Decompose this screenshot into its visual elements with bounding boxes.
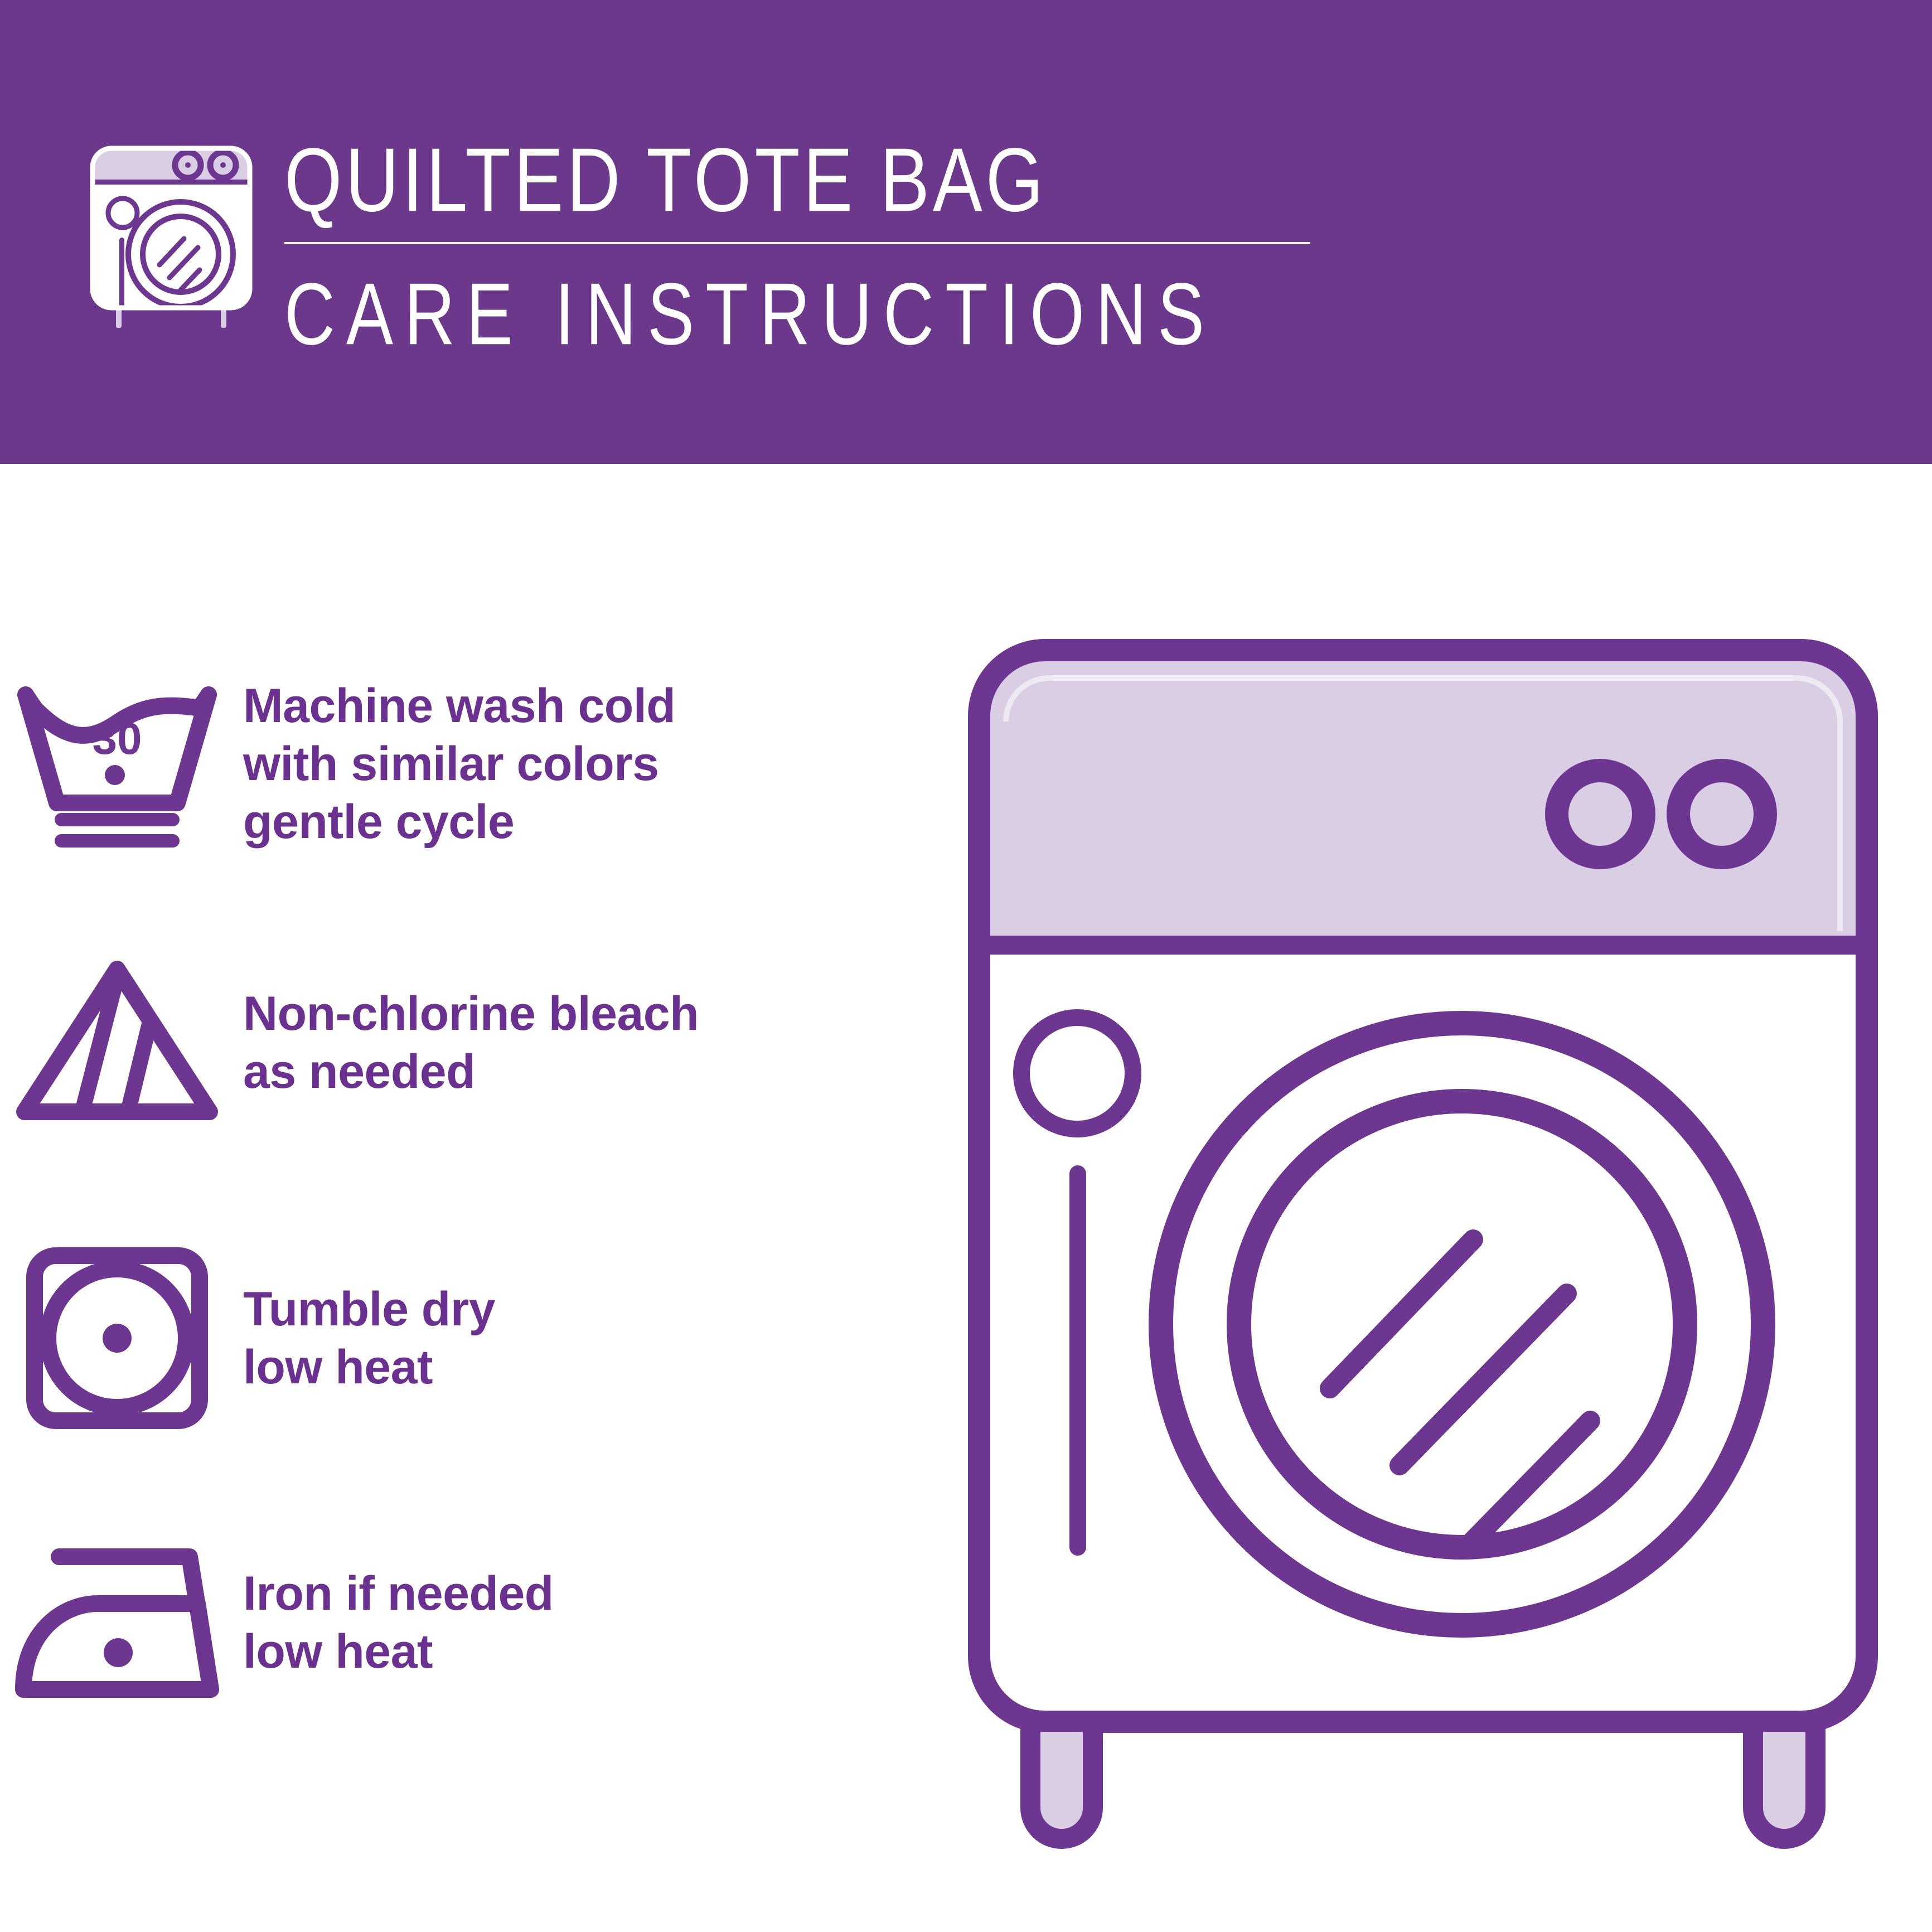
washing-machine-illustration bbox=[959, 630, 1907, 1857]
page-title: QUILTED TOTE BAG bbox=[284, 129, 1310, 231]
care-label-iron: Iron if needed low heat bbox=[234, 1565, 554, 1681]
iron-low-heat-icon bbox=[0, 1511, 234, 1734]
care-label-bleach: Non-chlorine bleach as needed bbox=[234, 985, 699, 1101]
wash-tub-30-gentle-icon: 30 bbox=[0, 652, 234, 875]
non-chlorine-bleach-triangle-icon bbox=[0, 931, 234, 1154]
header-text-block: QUILTED TOTE BAG CARE INSTRUCTIONS bbox=[284, 129, 1310, 343]
care-row-bleach: Non-chlorine bleach as needed bbox=[0, 931, 699, 1154]
care-label-machine-wash: Machine wash cold with similar colors ge… bbox=[234, 677, 675, 851]
page-subtitle: CARE INSTRUCTIONS bbox=[284, 265, 1310, 363]
tumble-dry-low-heat-icon bbox=[0, 1227, 234, 1450]
wash-temperature-label: 30 bbox=[93, 714, 142, 763]
care-instructions-infographic: QUILTED TOTE BAG CARE INSTRUCTIONS 30 bbox=[0, 0, 1932, 1932]
care-row-machine-wash: 30 Machine wash cold with similar colors… bbox=[0, 652, 675, 875]
header-banner: QUILTED TOTE BAG CARE INSTRUCTIONS bbox=[0, 0, 1932, 464]
title-divider bbox=[284, 242, 1310, 244]
care-row-tumble-dry: Tumble dry low heat bbox=[0, 1227, 495, 1450]
washing-machine-icon bbox=[85, 138, 258, 328]
care-label-tumble-dry: Tumble dry low heat bbox=[234, 1280, 495, 1396]
care-row-iron: Iron if needed low heat bbox=[0, 1511, 554, 1734]
